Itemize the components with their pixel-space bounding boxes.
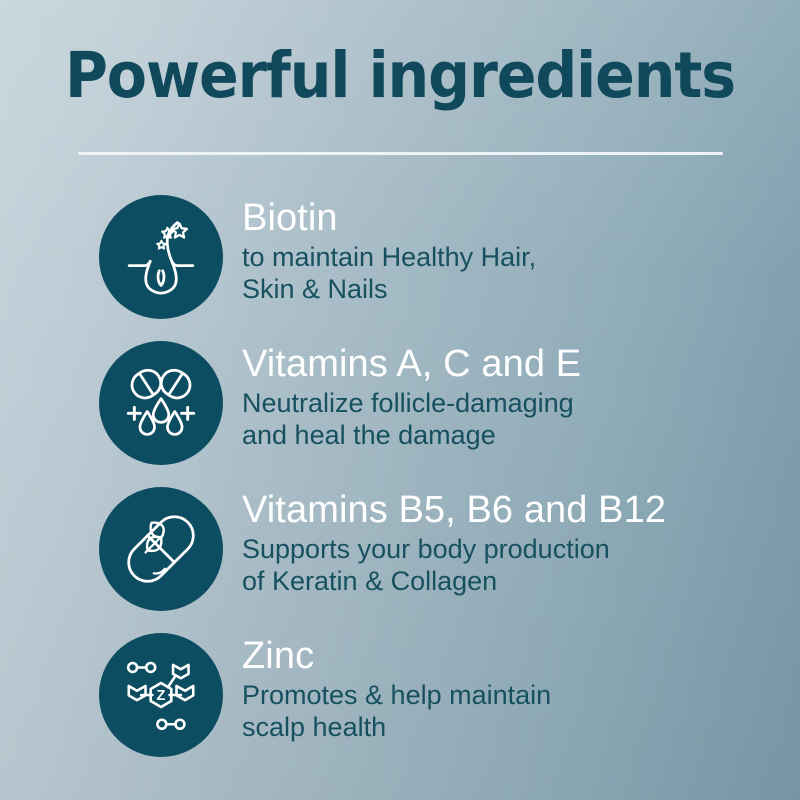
ingredient-heading: Vitamins B5, B6 and B12 <box>242 488 800 532</box>
capsules-droplets-icon <box>118 360 204 446</box>
ingredient-description: Promotes & help maintain scalp health <box>242 679 800 743</box>
ingredient-heading: Vitamins A, C and E <box>242 342 800 386</box>
ingredient-text: Biotin to maintain Healthy Hair, Skin & … <box>223 193 800 305</box>
ingredient-heading: Zinc <box>242 634 800 678</box>
list-item: Vitamins A, C and E Neutralize follicle-… <box>0 339 800 485</box>
list-item: Z Zinc Promotes & help mainta <box>0 631 800 777</box>
ingredient-icon-badge <box>99 487 223 611</box>
title-divider <box>78 152 723 155</box>
ingredient-text: Vitamins B5, B6 and B12 Supports your bo… <box>223 485 800 597</box>
ingredient-description: Supports your body production of Keratin… <box>242 533 800 597</box>
ingredient-icon-badge <box>99 195 223 319</box>
zinc-molecule-icon: Z <box>118 652 204 738</box>
ingredient-description: to maintain Healthy Hair, Skin & Nails <box>242 241 800 305</box>
page-title: Powerful ingredients <box>28 44 772 107</box>
list-item: Biotin to maintain Healthy Hair, Skin & … <box>0 193 800 339</box>
svg-text:Z: Z <box>157 688 166 704</box>
ingredients-list: Biotin to maintain Healthy Hair, Skin & … <box>0 193 800 777</box>
ingredient-heading: Biotin <box>242 196 800 240</box>
page-title-container: Powerful ingredients <box>0 44 800 107</box>
hair-follicle-icon <box>118 214 204 300</box>
ingredient-icon-badge <box>99 341 223 465</box>
list-item: Vitamins B5, B6 and B12 Supports your bo… <box>0 485 800 631</box>
ingredient-description: Neutralize follicle-damaging and heal th… <box>242 387 800 451</box>
powerful-ingredients-poster: Powerful ingredients Biotin to main <box>0 0 800 800</box>
ingredient-icon-badge: Z <box>99 633 223 757</box>
capsule-leaf-icon <box>118 506 204 592</box>
ingredient-text: Vitamins A, C and E Neutralize follicle-… <box>223 339 800 451</box>
ingredient-text: Zinc Promotes & help maintain scalp heal… <box>223 631 800 743</box>
